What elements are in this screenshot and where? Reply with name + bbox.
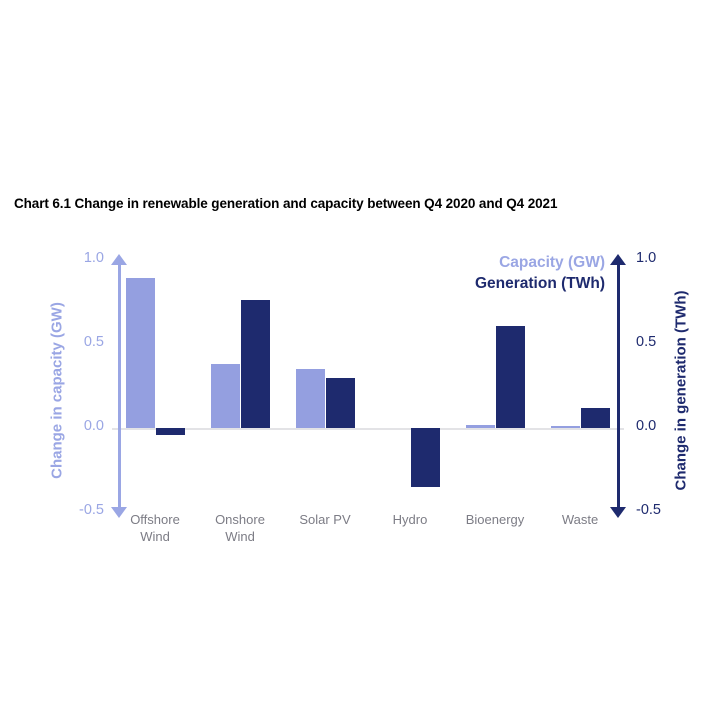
category-label-line: Solar PV [279,512,371,529]
chart-plot-area: 1.00.50.0-0.5 1.00.50.0-0.5 Change in ca… [0,0,702,702]
tick-label: 1.0 [636,250,682,266]
category-label-line: Waste [534,512,626,529]
bar-group [452,0,534,702]
bar-group [367,0,449,702]
category-label: Bioenergy [449,512,541,529]
right-axis [607,254,629,518]
category-label-line: Wind [109,529,201,546]
bar-generation-3[interactable] [411,428,440,487]
chart-legend: Capacity (GW) Generation (TWh) [330,252,605,295]
bar-generation-4[interactable] [496,326,525,428]
bar-capacity-4[interactable] [466,425,495,428]
bar-capacity-0[interactable] [126,278,155,428]
category-label-line: Hydro [364,512,456,529]
bar-generation-2[interactable] [326,378,355,428]
bar-group [282,0,364,702]
right-axis-shaft [617,264,620,508]
category-label-line: Wind [194,529,286,546]
tick-label: -0.5 [58,502,104,518]
bar-capacity-1[interactable] [211,364,240,428]
legend-item-capacity: Capacity (GW) [330,252,605,273]
legend-item-generation: Generation (TWh) [330,273,605,294]
left-axis-title: Change in capacity (GW) [49,281,66,501]
left-axis-shaft [118,264,121,508]
category-label: Solar PV [279,512,371,529]
bar-group [197,0,279,702]
bar-generation-1[interactable] [241,300,270,428]
category-label: Waste [534,512,626,529]
bar-generation-0[interactable] [156,428,185,435]
x-axis-category-labels: OffshoreWindOnshoreWindSolar PVHydroBioe… [112,512,624,562]
category-label: OffshoreWind [109,512,201,545]
left-axis [108,254,130,518]
category-label: OnshoreWind [194,512,286,545]
tick-label: 1.0 [58,250,104,266]
bar-series-container [112,0,624,702]
right-axis-title: Change in generation (TWh) [673,276,690,506]
category-label-line: Onshore [194,512,286,529]
bar-capacity-5[interactable] [551,426,580,428]
bar-capacity-2[interactable] [296,369,325,428]
category-label: Hydro [364,512,456,529]
bar-generation-5[interactable] [581,408,610,428]
category-label-line: Offshore [109,512,201,529]
category-label-line: Bioenergy [449,512,541,529]
